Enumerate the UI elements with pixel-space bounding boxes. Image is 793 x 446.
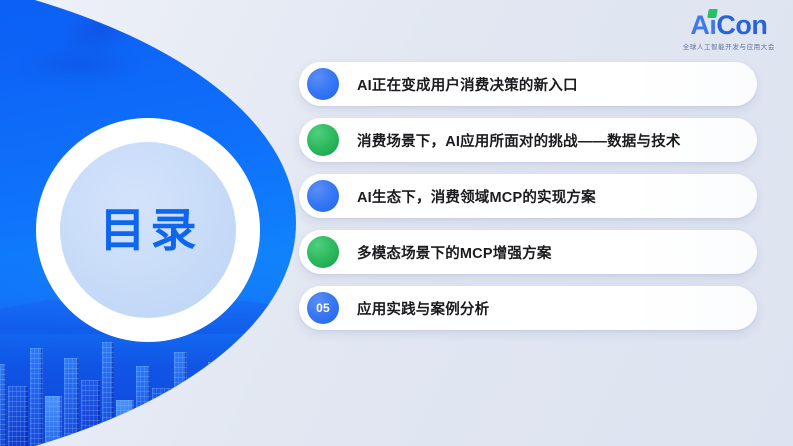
building (225, 382, 244, 446)
aicon-logo: AiCon 全球人工智能开发与应用大会 (683, 12, 775, 51)
list-item-label: 消费场景下，AI应用所面对的挑战——数据与技术 (357, 130, 681, 151)
item-number-badge: 05 (307, 292, 339, 324)
building (189, 394, 206, 446)
list-item[interactable]: 消费场景下，AI应用所面对的挑战——数据与技术 (299, 118, 757, 162)
building (30, 348, 43, 446)
item-number-badge (307, 68, 339, 100)
building (45, 396, 62, 446)
list-item[interactable]: 05 应用实践与案例分析 (299, 286, 757, 330)
logo-text-con: Con (716, 10, 767, 40)
item-number-badge (307, 124, 339, 156)
page-title: 目录 (95, 207, 202, 253)
list-item[interactable]: 多模态场景下的MCP增强方案 (299, 230, 757, 274)
building (152, 388, 172, 446)
list-item-label: AI正在变成用户消费决策的新入口 (357, 74, 578, 95)
logo-wordmark: AiCon (690, 12, 767, 39)
building (64, 358, 79, 446)
building (136, 366, 150, 446)
building (81, 380, 100, 446)
building (102, 342, 114, 446)
list-item-label: 应用实践与案例分析 (357, 298, 489, 319)
toc-circle-inner: 目录 (60, 142, 236, 318)
building (8, 386, 28, 446)
list-item-label: 多模态场景下的MCP增强方案 (357, 242, 552, 263)
building (116, 400, 134, 446)
building (208, 362, 223, 446)
building (174, 352, 187, 446)
building (246, 346, 260, 446)
list-item-label: AI生态下，消费领域MCP的实现方案 (357, 186, 596, 207)
logo-subtitle: 全球人工智能开发与应用大会 (683, 41, 775, 51)
item-number-badge (307, 180, 339, 212)
building (262, 402, 280, 446)
building (0, 364, 6, 446)
toc-circle-badge: 目录 (36, 118, 260, 342)
cloud-wisp2-icon (0, 20, 170, 110)
list-item[interactable]: AI生态下，消费领域MCP的实现方案 (299, 174, 757, 218)
item-number-badge (307, 236, 339, 268)
slide-canvas: 目录 AiCon 全球人工智能开发与应用大会 AI正在变成用户消费决策的新入口 … (0, 0, 793, 446)
list-item[interactable]: AI正在变成用户消费决策的新入口 (299, 62, 757, 106)
table-of-contents-list: AI正在变成用户消费决策的新入口 消费场景下，AI应用所面对的挑战——数据与技术… (299, 62, 757, 330)
